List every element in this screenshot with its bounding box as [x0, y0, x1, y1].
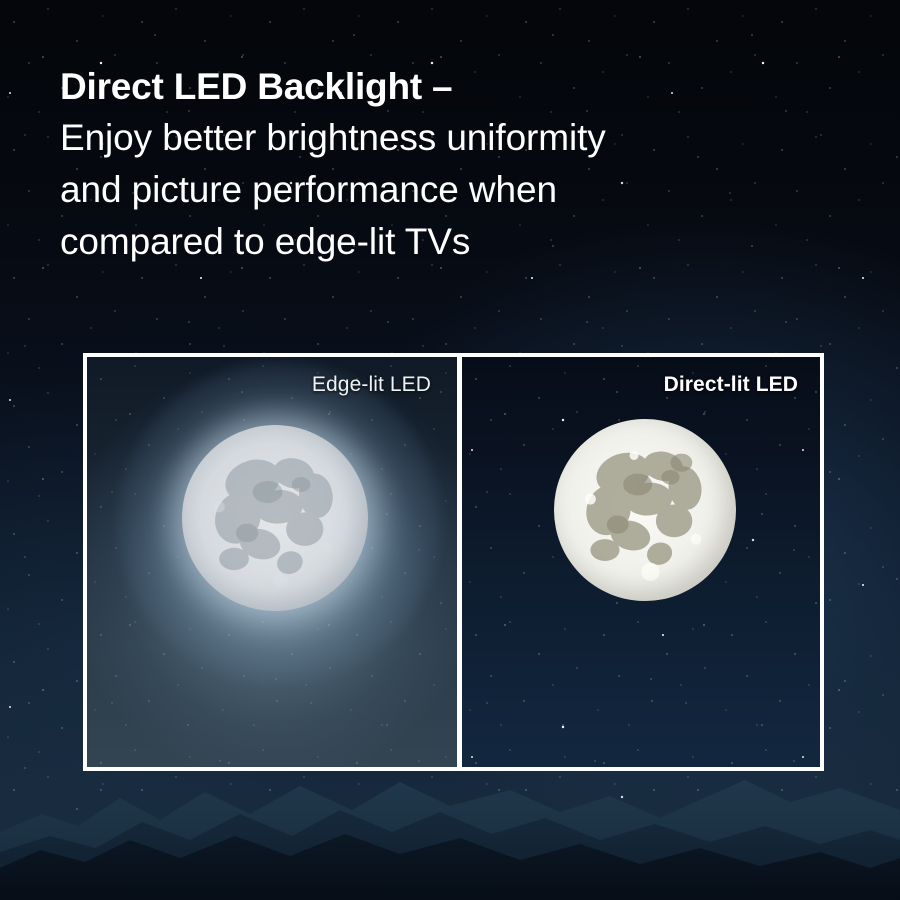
moon-maria-left [182, 425, 368, 611]
headline-line-2: and picture performance when [60, 164, 860, 216]
comparison-frame: Edge-lit LED [83, 353, 824, 771]
panel-edge-lit: Edge-lit LED [87, 357, 457, 767]
moon-maria-right [554, 419, 736, 601]
moon-direct-lit [554, 419, 736, 601]
panel-label-direct-lit: Direct-lit LED [664, 373, 798, 397]
headline-title: Direct LED Backlight – [60, 62, 860, 112]
panel-direct-lit: Direct-lit LED [462, 357, 820, 767]
headline-line-3: compared to edge-lit TVs [60, 216, 860, 268]
headline-line-1: Enjoy better brightness uniformity [60, 112, 860, 164]
panel-label-edge-lit: Edge-lit LED [312, 373, 431, 397]
moon-edge-lit [182, 425, 368, 611]
headline-block: Direct LED Backlight – Enjoy better brig… [60, 62, 860, 268]
promo-banner: Direct LED Backlight – Enjoy better brig… [0, 0, 900, 900]
